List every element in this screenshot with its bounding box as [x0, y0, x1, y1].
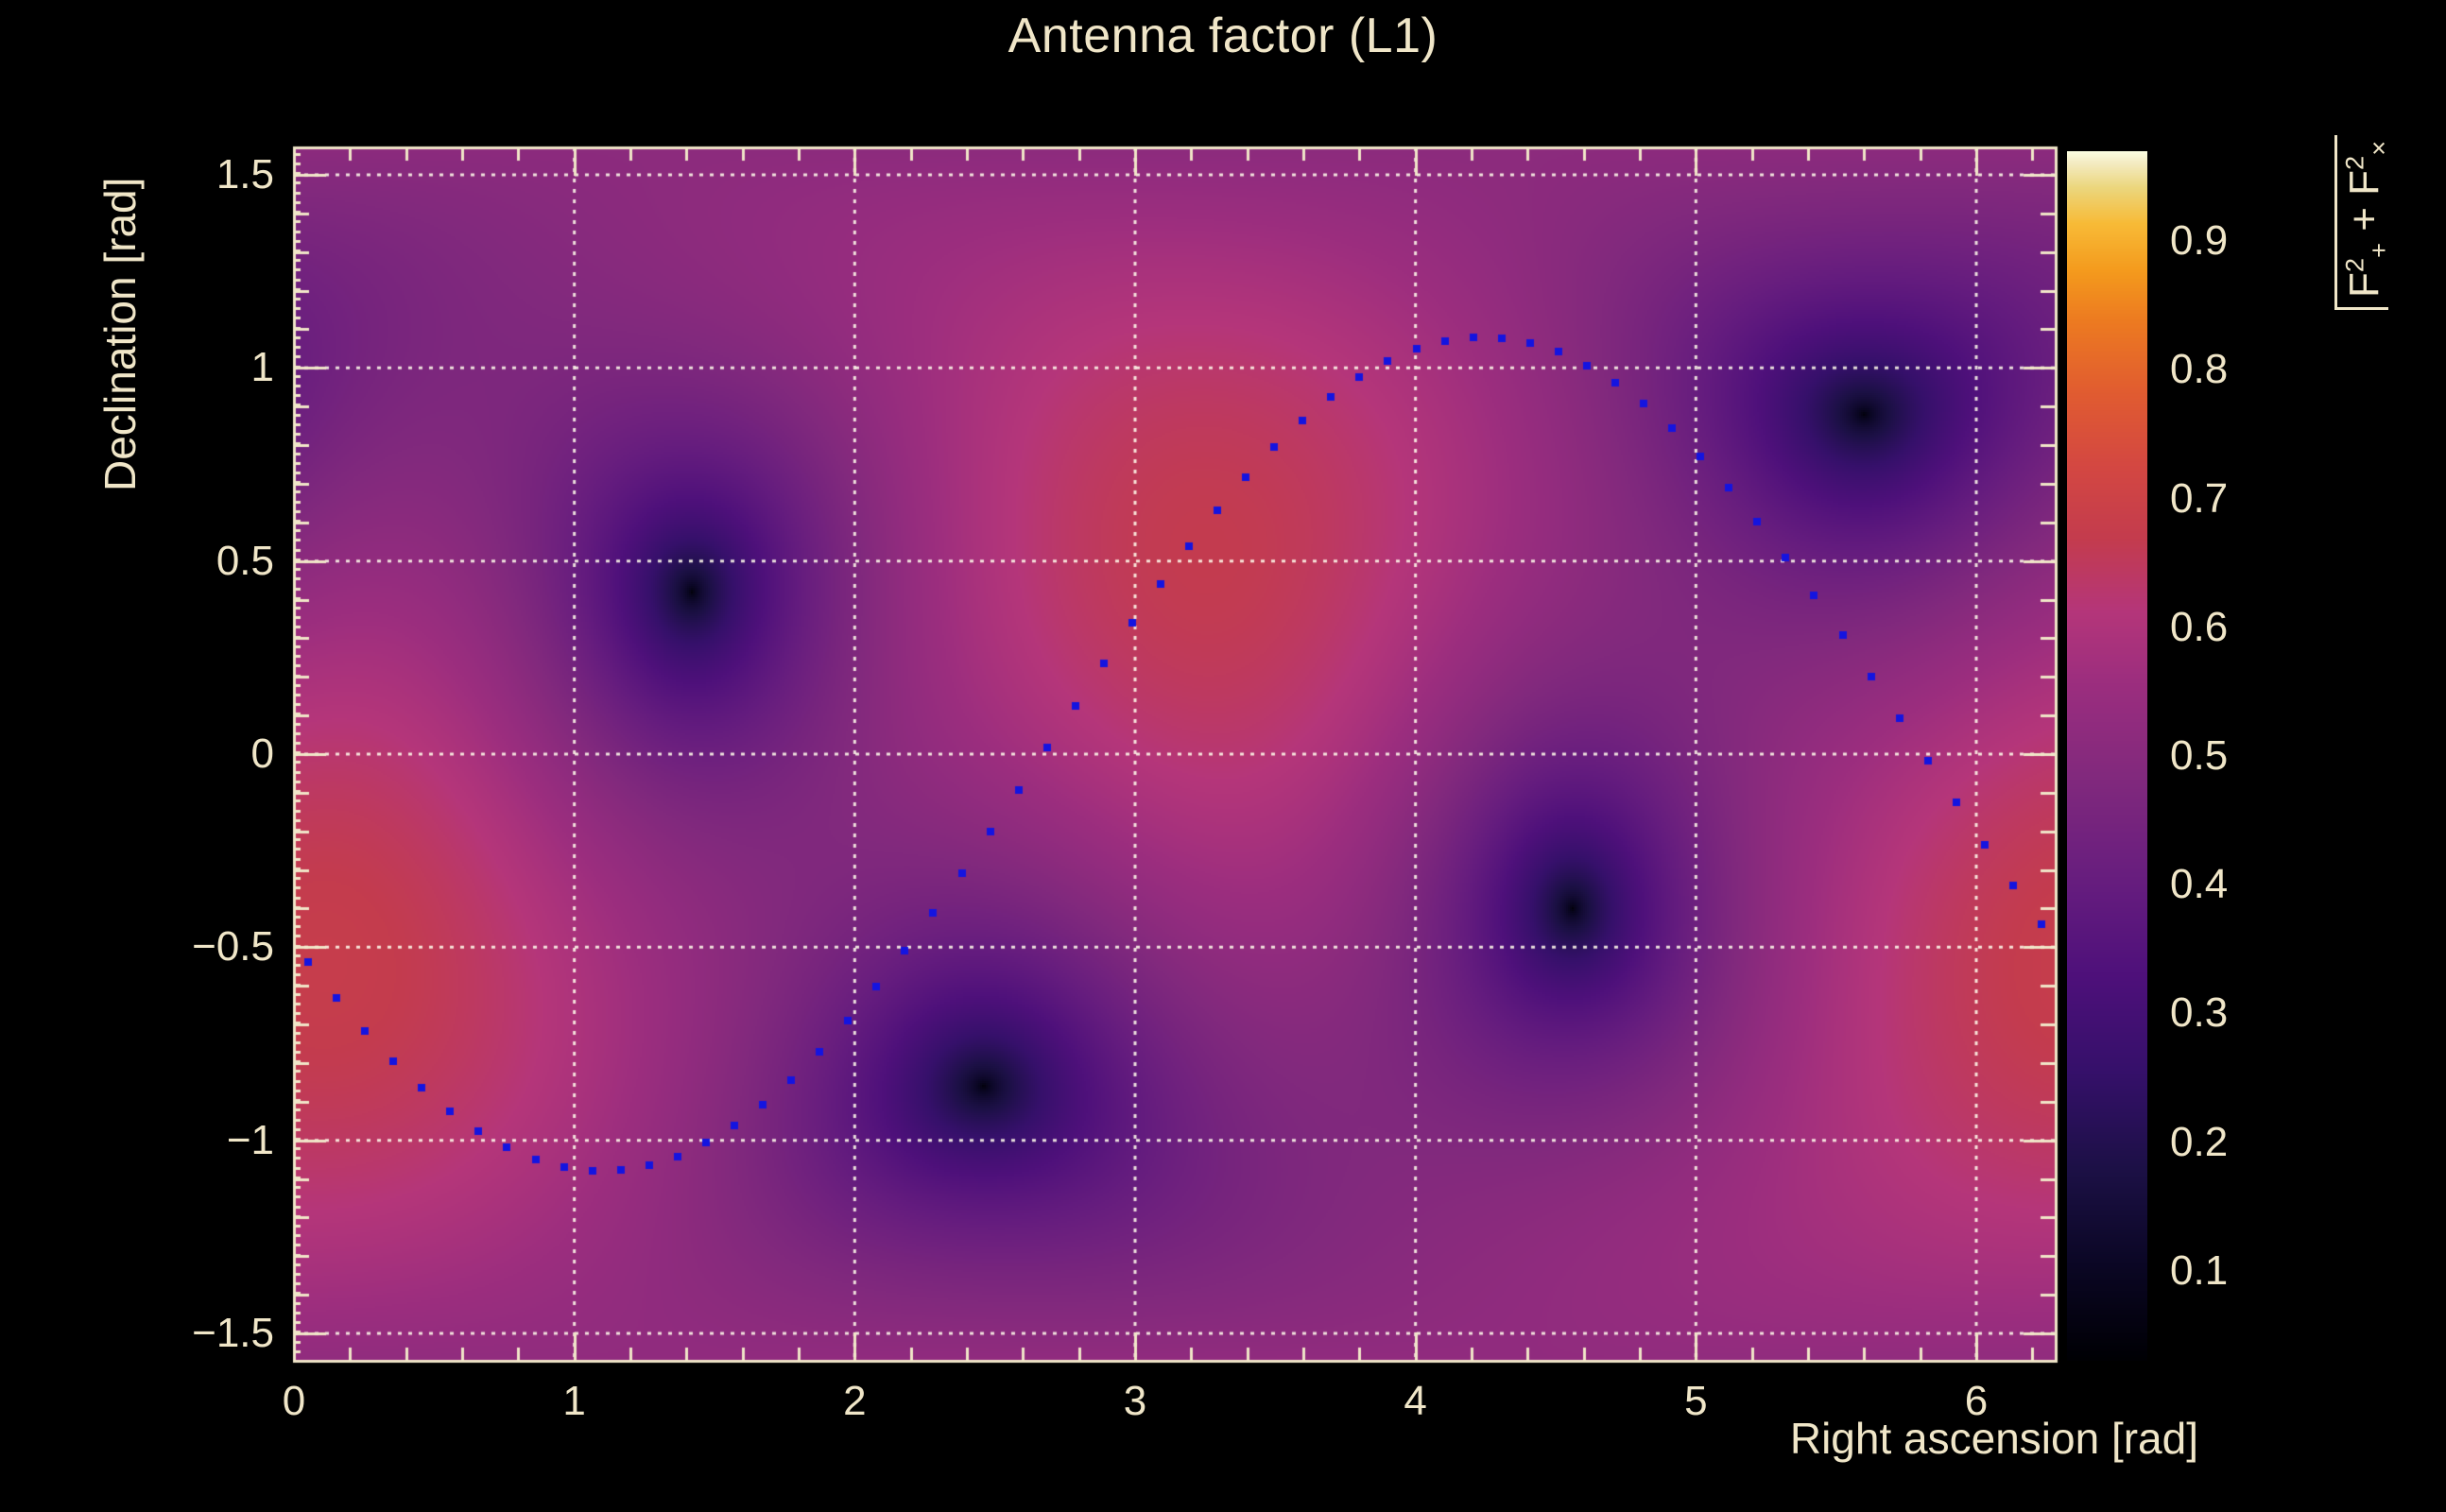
- y-tick-label: −0.5: [132, 923, 274, 971]
- page-title: Antenna factor (L1): [0, 8, 2446, 64]
- colorbar-tick-label: 0.7: [2170, 475, 2228, 523]
- colorbar-tick-label: 0.5: [2170, 732, 2228, 780]
- overlay-markers-canvas: [294, 147, 2056, 1361]
- y-axis-title: Declination [rad]: [95, 178, 146, 491]
- x-axis-title: Right ascension [rad]: [1790, 1413, 2198, 1464]
- y-tick-label: 1: [132, 344, 274, 391]
- colorbar-title: F2+ + F2×: [2334, 135, 2388, 312]
- x-tick-label: 5: [1684, 1378, 1707, 1425]
- colorbar-tick-label: 0.3: [2170, 989, 2228, 1037]
- colorbar-tick-label: 0.8: [2170, 346, 2228, 393]
- colorbar: [2067, 151, 2147, 1361]
- x-tick-label: 4: [1404, 1378, 1426, 1425]
- y-tick-label: −1: [132, 1117, 274, 1164]
- y-tick-label: 1.5: [132, 151, 274, 198]
- colorbar-tick-label: 0.2: [2170, 1119, 2228, 1166]
- heatmap-plot-area: [294, 147, 2056, 1361]
- colorbar-tick-label: 0.6: [2170, 604, 2228, 651]
- y-tick-label: −1.5: [132, 1310, 274, 1357]
- x-tick-label: 6: [1965, 1378, 1988, 1425]
- radical-sign: F2+ + F2×: [2334, 135, 2388, 310]
- x-tick-label: 2: [843, 1378, 866, 1425]
- y-tick-label: 0: [132, 730, 274, 778]
- chart-root: Antenna factor (L1) Declination [rad] Ri…: [0, 0, 2446, 1512]
- colorbar-tick-label: 0.9: [2170, 217, 2228, 265]
- x-tick-label: 1: [562, 1378, 585, 1425]
- y-tick-label: 0.5: [132, 538, 274, 585]
- colorbar-tick-label: 0.4: [2170, 861, 2228, 908]
- colorbar-tick-label: 0.1: [2170, 1247, 2228, 1295]
- x-tick-label: 3: [1124, 1378, 1146, 1425]
- x-tick-label: 0: [283, 1378, 305, 1425]
